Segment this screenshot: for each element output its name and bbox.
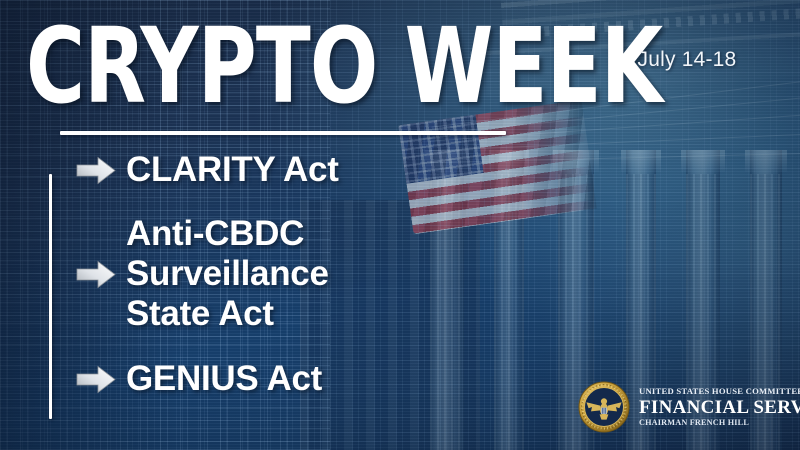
vertical-divider [49, 174, 52, 419]
bill-list: CLARITY Act Anti- [76, 150, 496, 399]
right-arrow-icon [76, 156, 116, 185]
list-item: CLARITY Act [76, 150, 496, 190]
crypto-week-graphic: CRYPTO WEEK July 14-18 [0, 0, 800, 450]
committee-logo-line3: CHAIRMAN FRENCH HILL [639, 419, 800, 427]
bill-name: Anti-CBDC Surveillance State Act [126, 214, 329, 334]
committee-logo-line1: UNITED STATES HOUSE COMMITTEE ON [639, 387, 800, 396]
list-item: GENIUS Act [76, 359, 496, 399]
right-arrow-icon [76, 260, 116, 289]
event-date: July 14-18 [592, 48, 782, 72]
list-item: Anti-CBDC Surveillance State Act [76, 214, 496, 334]
right-arrow-icon [76, 365, 116, 394]
committee-logo-text: UNITED STATES HOUSE COMMITTEE ON FINANCI… [639, 387, 800, 427]
committee-logo: UNITED STATES HOUSE COMMITTEE ON FINANCI… [578, 381, 800, 433]
house-financial-services-seal-icon [578, 381, 630, 433]
committee-logo-line2: FINANCIAL SERVICES [639, 398, 800, 417]
page-title: CRYPTO WEEK [26, 14, 662, 118]
bill-name: GENIUS Act [126, 359, 322, 399]
bill-name: CLARITY Act [126, 150, 339, 190]
horizontal-divider [60, 131, 506, 135]
